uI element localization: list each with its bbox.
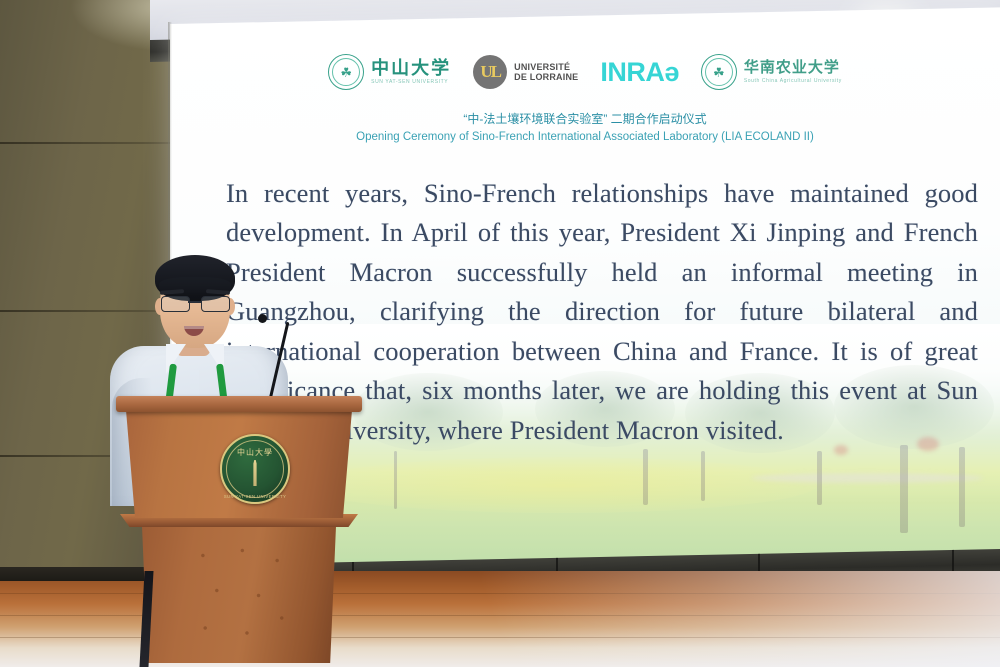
lectern: 中山大學 SUN YAT-SEN UNIVERSITY — [116, 396, 362, 667]
scau-en-name: South China Agricultural University — [744, 78, 842, 84]
headline-en: Opening Ceremony of Sino-French Internat… — [170, 129, 1000, 147]
ul-mark-icon: UL — [473, 55, 507, 89]
scau-seal-glyph: ☘ — [713, 66, 725, 79]
lectern-desktop — [116, 396, 362, 412]
photo-scene: ☘ 中山大学 SUN YAT-SEN UNIVERSITY UL UNIVERS… — [0, 0, 1000, 667]
sysu-seal-icon: ☘ — [328, 54, 364, 90]
seal-en-text: SUN YAT-SEN UNIVERSITY — [222, 494, 288, 499]
lectern-carving — [182, 538, 298, 663]
glasses-icon — [159, 296, 231, 311]
sysu-en-name: SUN YAT-SEN UNIVERSITY — [371, 79, 451, 85]
sysu-seal-glyph: ☘ — [340, 66, 352, 79]
seal-cn-text: 中山大學 — [222, 447, 288, 458]
south-china-agricultural-university-logo: ☘ 华南农业大学 South China Agricultural Univer… — [701, 54, 842, 90]
slide-headline: “中-法土壤环境联合实验室” 二期合作启动仪式 Opening Ceremony… — [170, 110, 1000, 146]
ul-line1: UNIVERSITÉ — [514, 62, 578, 72]
universite-de-lorraine-logo: UL UNIVERSITÉ DE LORRAINE — [473, 55, 578, 89]
inrae-logo: INRAə — [600, 59, 679, 86]
headline-cn: “中-法土壤环境联合实验室” 二期合作启动仪式 — [170, 110, 1000, 129]
scau-cn-name: 华南农业大学 — [744, 61, 842, 76]
presenter-hair — [155, 255, 235, 301]
sysu-cn-name: 中山大学 — [371, 59, 451, 77]
ul-line2: DE LORRAINE — [514, 72, 578, 82]
scau-seal-icon: ☘ — [701, 54, 737, 90]
inrae-wordmark: INRAə — [600, 59, 679, 86]
sun-yat-sen-university-seal: 中山大學 SUN YAT-SEN UNIVERSITY — [220, 434, 290, 504]
sun-yat-sen-university-logo: ☘ 中山大学 SUN YAT-SEN UNIVERSITY — [328, 54, 451, 90]
slide-logo-row: ☘ 中山大学 SUN YAT-SEN UNIVERSITY UL UNIVERS… — [170, 54, 1000, 90]
microphone-icon — [258, 314, 267, 323]
